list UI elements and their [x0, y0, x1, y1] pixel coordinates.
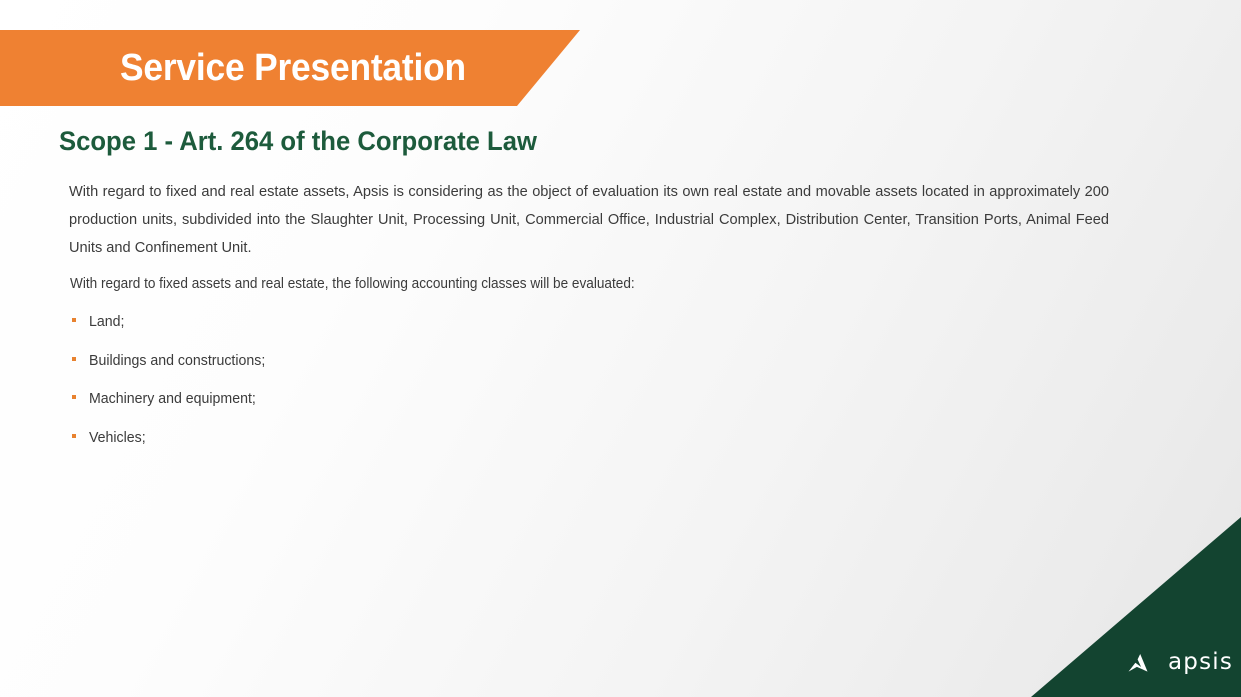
list-item: Vehicles;	[69, 426, 769, 465]
slide-title: Service Presentation	[120, 31, 466, 105]
bullet-square-icon	[72, 395, 76, 399]
intro-paragraph: With regard to fixed and real estate ass…	[69, 178, 1109, 262]
list-item-label: Machinery and equipment;	[89, 387, 256, 411]
list-item: Buildings and constructions;	[69, 349, 769, 388]
list-item: Machinery and equipment;	[69, 387, 769, 426]
bullet-square-icon	[72, 357, 76, 361]
list-item-label: Land;	[89, 310, 124, 334]
list-item-label: Buildings and constructions;	[89, 349, 265, 373]
bullet-square-icon	[72, 434, 76, 438]
slide-canvas: Service Presentation Scope 1 - Art. 264 …	[0, 0, 1241, 697]
section-heading: Scope 1 - Art. 264 of the Corporate Law	[59, 123, 537, 159]
apsis-mountain-mark-icon	[1128, 652, 1162, 673]
apsis-wordmark: apsis	[1168, 651, 1233, 674]
apsis-logo: apsis	[1128, 649, 1233, 675]
list-item-label: Vehicles;	[89, 426, 146, 450]
list-item: Land;	[69, 310, 769, 349]
bullet-square-icon	[72, 318, 76, 322]
accounting-classes-list: Land; Buildings and constructions; Machi…	[69, 310, 769, 464]
lead-in-paragraph: With regard to fixed assets and real est…	[70, 272, 1053, 296]
